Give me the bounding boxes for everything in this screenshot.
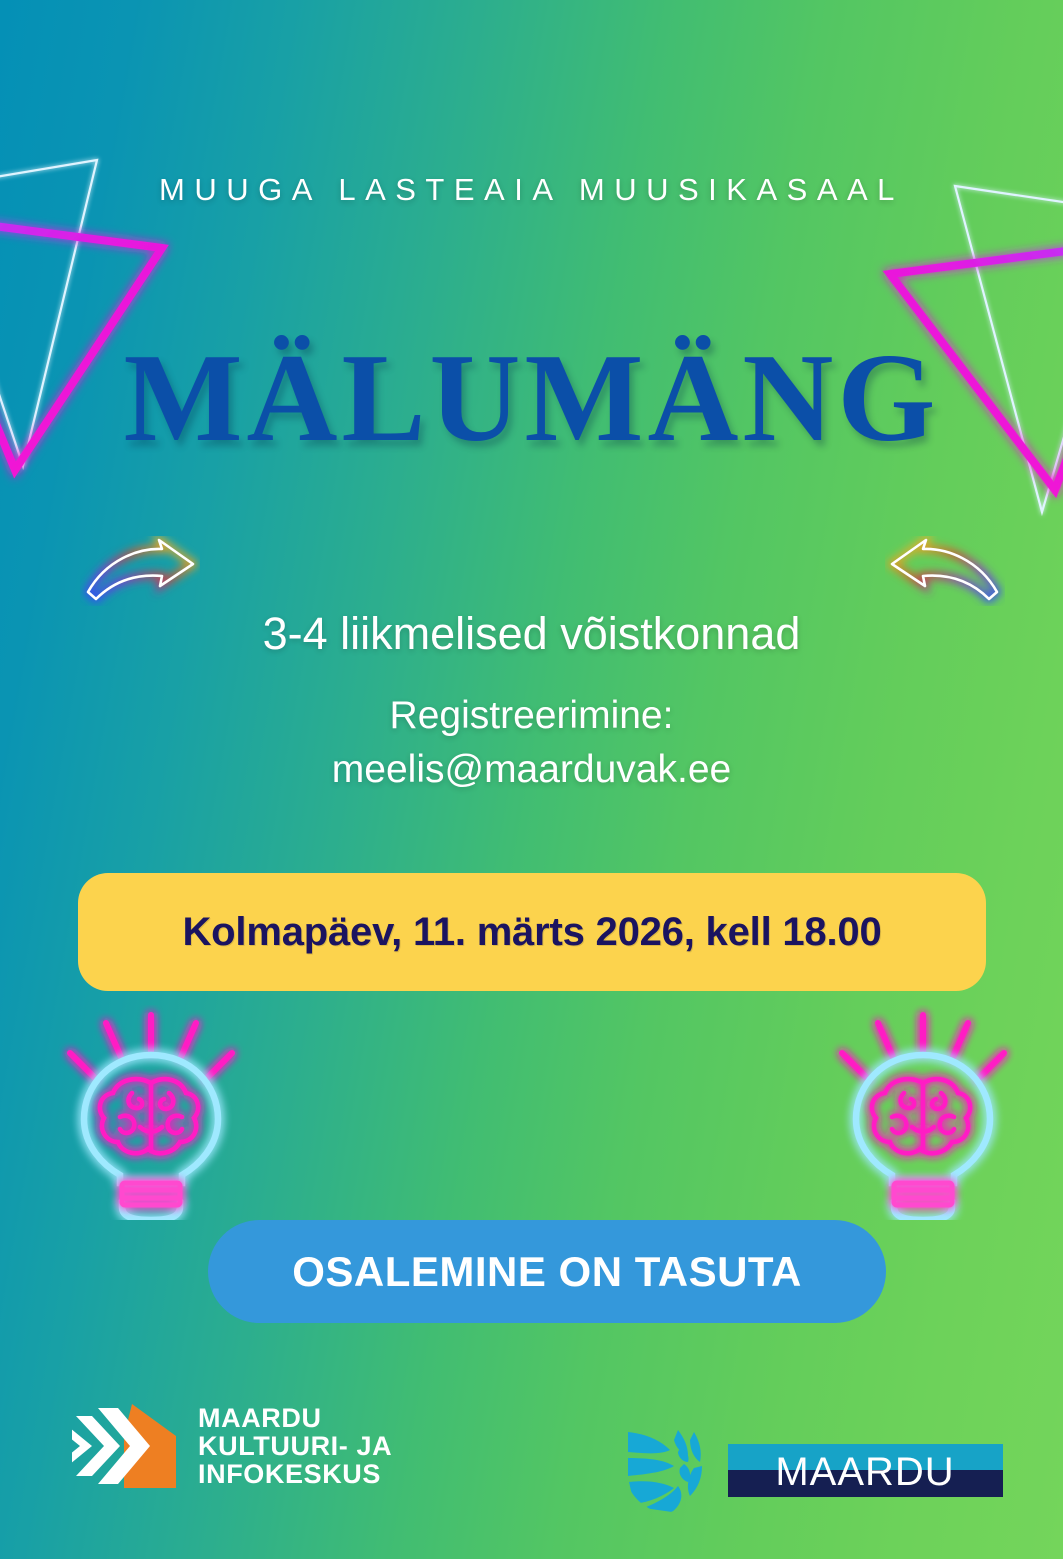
subtitle-team-size: 3-4 liikmelised võistkonnad: [0, 608, 1063, 660]
poster-canvas: MUUGA LASTEAIA MUUSIKASAAL MÄLUMÄNG 3-4 …: [0, 0, 1063, 1559]
registration-email: meelis@maarduvak.ee: [0, 748, 1063, 792]
maardu-wordmark-block: MAARDU: [728, 1444, 1003, 1497]
neon-arrow-right-pointing: [80, 536, 200, 606]
maardu-kultuuri-ja-infokeskus-logo[interactable]: MAARDU KULTUURI- JA INFOKESKUS: [72, 1396, 392, 1496]
page-title: MÄLUMÄNG: [0, 336, 1063, 462]
mki-chevron-house-icon: [72, 1396, 184, 1496]
neon-lightbulb-brain-left: [48, 1005, 253, 1220]
maardu-wordmark-text: MAARDU: [775, 1450, 954, 1494]
maardu-wordmark-letters: MAARDU: [728, 1444, 1003, 1497]
free-participation-text: OSALEMINE ON TASUTA: [292, 1248, 802, 1296]
date-banner: Kolmapäev, 11. märts 2026, kell 18.00: [78, 873, 986, 991]
free-participation-badge: OSALEMINE ON TASUTA: [208, 1220, 886, 1323]
maardu-city-logo[interactable]: MAARDU: [616, 1424, 1003, 1516]
poster-eyebrow: MUUGA LASTEAIA MUUSIKASAAL: [0, 172, 1063, 208]
mki-logo-text: MAARDU KULTUURI- JA INFOKESKUS: [198, 1404, 392, 1488]
nautilus-shell-shield-icon: [616, 1424, 712, 1516]
date-banner-text: Kolmapäev, 11. märts 2026, kell 18.00: [183, 910, 882, 955]
neon-lightbulb-brain-right: [820, 1005, 1025, 1220]
neon-arrow-left-pointing: [885, 536, 1005, 606]
registration-label: Registreerimine:: [0, 694, 1063, 738]
